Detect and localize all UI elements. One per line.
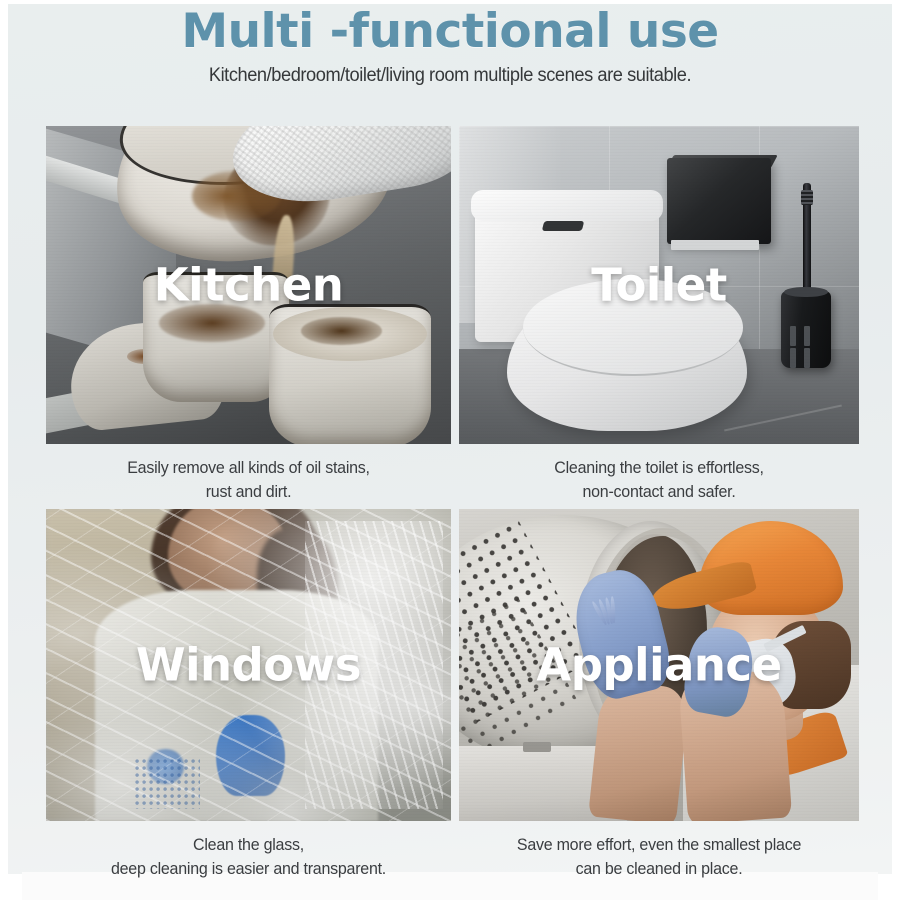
scene-photo-toilet: Toilet — [459, 126, 859, 444]
scene-card-appliance: Appliance Save more effort, even the sma… — [459, 509, 859, 886]
glass-smear-shape — [305, 521, 443, 808]
scene-photo-kitchen: Kitchen — [46, 126, 451, 444]
scene-caption-kitchen: Easily remove all kinds of oil stains, r… — [52, 457, 445, 509]
caption-line-1: Save more effort, even the smallest plac… — [465, 834, 853, 858]
caption-line-1: Easily remove all kinds of oil stains, — [52, 457, 445, 481]
flush-button-shape — [542, 221, 585, 231]
washer-latch-shape — [523, 742, 551, 753]
toilet-brush-grip-shape — [801, 190, 813, 206]
water-droplet-speckle — [135, 759, 200, 809]
scene-card-toilet: Toilet Cleaning the toilet is effortless… — [459, 126, 859, 509]
caption-line-2: can be cleaned in place. — [465, 858, 853, 882]
page-subtitle: Kitchen/bedroom/toilet/living room multi… — [18, 65, 882, 87]
caption-line-1: Clean the glass, — [52, 834, 445, 858]
paper-holder-lip-shape — [671, 240, 759, 250]
toilet-tank-top-shape — [471, 190, 663, 222]
scene-card-kitchen: Kitchen Easily remove all kinds of oil s… — [46, 126, 451, 509]
glove-fingers-shape — [595, 596, 620, 627]
brush-holder-slot — [790, 348, 796, 368]
poster-header: Multi -functional use Kitchen/bedroom/to… — [0, 6, 900, 87]
caption-line-2: rust and dirt. — [52, 481, 445, 505]
toilet-brush-holder-shape — [781, 291, 831, 367]
scene-photo-windows: Windows — [46, 509, 451, 821]
caption-line-2: deep cleaning is easier and transparent. — [52, 858, 445, 882]
scene-caption-appliance: Save more effort, even the smallest plac… — [465, 834, 853, 886]
paper-holder-shape — [667, 158, 771, 244]
scene-photo-appliance: Appliance — [459, 509, 859, 821]
brush-holder-slot — [790, 326, 796, 346]
caption-line-1: Cleaning the toilet is effortless, — [465, 457, 853, 481]
product-infographic-poster: Multi -functional use Kitchen/bedroom/to… — [0, 0, 900, 900]
page-title: Multi -functional use — [0, 6, 900, 59]
brush-holder-slot — [804, 348, 810, 368]
caption-line-2: non-contact and safer. — [465, 481, 853, 505]
toilet-lid-shape — [523, 279, 743, 376]
cup-left-stain-shape — [159, 304, 264, 342]
scene-caption-toilet: Cleaning the toilet is effortless, non-c… — [465, 457, 853, 509]
scene-caption-windows: Clean the glass, deep cleaning is easier… — [52, 834, 445, 886]
brush-holder-slot — [804, 326, 810, 346]
worker-arm-left-shape — [588, 679, 690, 821]
scene-card-windows: Windows Clean the glass, deep cleaning i… — [46, 509, 451, 886]
scene-grid: Kitchen Easily remove all kinds of oil s… — [46, 126, 856, 886]
